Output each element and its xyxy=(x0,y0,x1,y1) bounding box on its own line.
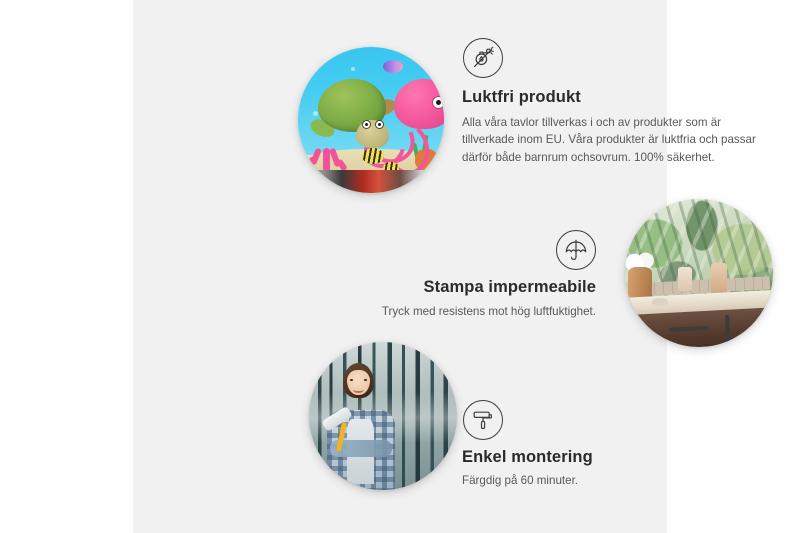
feature-odourless: Luktfri produkt Alla våra tavlor tillver… xyxy=(462,38,758,167)
octopus-eye xyxy=(432,96,444,109)
icon-row-odourless xyxy=(462,38,758,78)
soap-dish xyxy=(652,298,668,305)
feature-title: Enkel montering xyxy=(462,448,712,468)
page-root: Luktfri produkt Alla våra tavlor tillver… xyxy=(0,0,800,533)
content-panel: Luktfri produkt Alla våra tavlor tillver… xyxy=(133,0,667,533)
ocean-scene xyxy=(298,47,444,193)
umbrella-icon xyxy=(556,230,596,270)
feature-assembly: Enkel montering Färgdig på 60 minuter. xyxy=(462,400,712,489)
feature-description: Färgdig på 60 minuter. xyxy=(462,472,712,490)
cabinet-handle xyxy=(725,316,730,344)
cabinet-handle xyxy=(669,326,708,332)
bubble-icon xyxy=(313,111,318,116)
woman-eyes xyxy=(350,379,366,381)
feature-waterproof: Stampa impermeabile Tryck med resistens … xyxy=(348,230,596,320)
yellow-fish-icon xyxy=(362,148,384,164)
soap-bottle xyxy=(678,267,691,291)
bathroom-scene xyxy=(625,199,773,347)
product-image-bathroom[interactable] xyxy=(625,199,773,347)
ocean-foreground-strip xyxy=(298,170,444,193)
icon-row-assembly xyxy=(462,400,712,440)
soap-bottle xyxy=(711,263,727,296)
feature-title: Luktfri produkt xyxy=(462,88,758,108)
icon-row-waterproof xyxy=(348,230,596,270)
feature-description: Tryck med resistens mot hög luftfuktighe… xyxy=(348,303,596,321)
wood-cabinet xyxy=(630,308,773,347)
feature-description: Alla våra tavlor tillverkas i och av pro… xyxy=(462,114,758,167)
product-image-painter[interactable] xyxy=(309,342,457,490)
woman-smile xyxy=(353,386,363,392)
paint-roller-icon xyxy=(463,400,503,440)
feature-title: Stampa impermeabile xyxy=(348,278,596,298)
coral-icon xyxy=(305,132,349,173)
painter-scene xyxy=(309,342,457,490)
no-odour-perfume-bottle-icon xyxy=(463,38,503,78)
product-image-ocean[interactable] xyxy=(298,47,444,193)
